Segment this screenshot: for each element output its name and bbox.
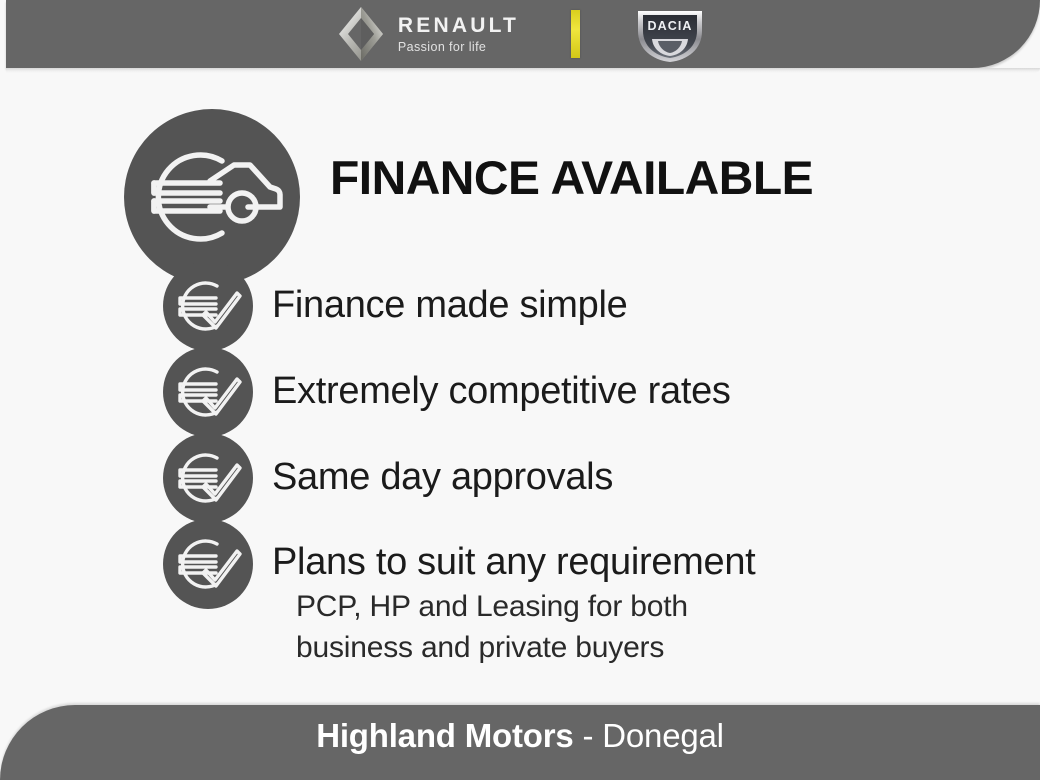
renault-wordmark: RENAULT Passion for life [398, 15, 519, 54]
dealer-name: Highland Motors [316, 717, 573, 754]
sub-note-line-2: business and private buyers [296, 627, 688, 668]
sub-note-line-1: PCP, HP and Leasing for both [296, 586, 688, 627]
dacia-brand-name: DACIA [708, 5, 709, 6]
dealer-separator: - [574, 717, 603, 754]
header-shadow-strip [6, 68, 1040, 73]
renault-diamond-icon [338, 6, 384, 62]
benefit-label-2: Extremely competitive rates [272, 370, 731, 413]
sub-note: PCP, HP and Leasing for both business an… [296, 586, 688, 668]
dealer-footer: Highland Motors - Donegal [0, 717, 1040, 755]
euro-check-icon [162, 346, 254, 438]
euro-check-icon [162, 432, 254, 524]
brand-header-bar: RENAULT Passion for life [6, 0, 1040, 68]
benefit-label-3: Same day approvals [272, 456, 613, 499]
euro-check-icon [162, 260, 254, 352]
renault-logo-lockup: RENAULT Passion for life [338, 6, 519, 62]
benefit-label-1: Finance made simple [272, 284, 627, 327]
renault-brand-name: RENAULT [398, 15, 519, 36]
svg-text:DACIA: DACIA [648, 19, 693, 33]
euro-check-icon [162, 518, 254, 610]
finance-available-poster: RENAULT Passion for life [0, 0, 1040, 780]
benefit-label-4: Plans to suit any requirement [272, 541, 755, 584]
dacia-shield-icon: DACIA DACIA [632, 5, 708, 63]
page-title: FINANCE AVAILABLE [330, 150, 813, 205]
brand-logo-row: RENAULT Passion for life [6, 0, 1040, 68]
renault-tagline: Passion for life [398, 41, 519, 54]
dealer-location: Donegal [602, 717, 724, 754]
euro-car-finance-icon [124, 109, 300, 285]
brand-divider [571, 10, 580, 58]
